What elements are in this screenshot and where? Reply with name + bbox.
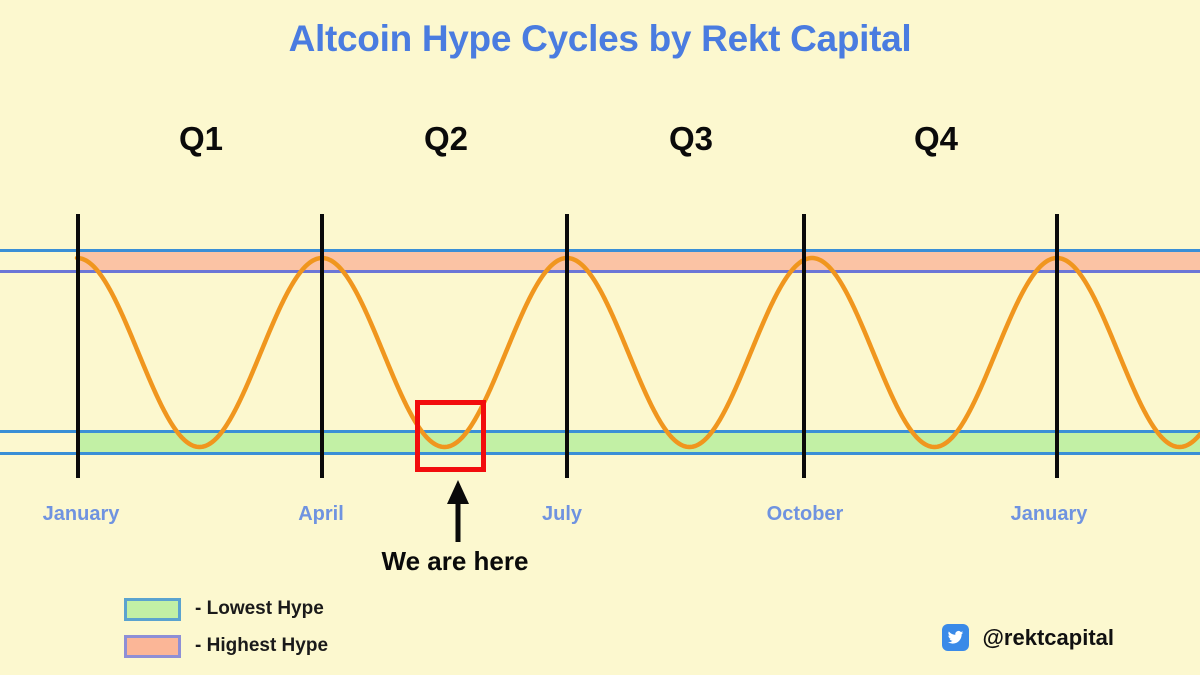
credit-attribution: @rektcapital: [942, 624, 1114, 651]
month-label-january: January: [43, 503, 120, 526]
legend-item-highest-hype: - Highest Hype: [124, 631, 328, 661]
quarter-divider-january-end: [1055, 214, 1059, 478]
twitter-icon: [942, 624, 969, 651]
legend-label-highest-hype: - Highest Hype: [195, 635, 328, 657]
lowest-band-top-line: [0, 430, 1200, 433]
legend-label-lowest-hype: - Lowest Hype: [195, 598, 324, 620]
chart-canvas: Altcoin Hype Cycles by Rekt Capital Q1 Q…: [0, 0, 1200, 675]
quarter-divider-july: [565, 214, 569, 478]
lowest-hype-band: [77, 433, 1200, 452]
current-position-highlight-box: [415, 400, 486, 472]
legend: - Lowest Hype - Highest Hype: [124, 594, 328, 668]
month-label-july: July: [542, 503, 582, 526]
lowest-band-bottom-line: [0, 452, 1200, 455]
annotation-label: We are here: [382, 546, 529, 577]
quarter-divider-january: [76, 214, 80, 478]
highest-band-top-line: [0, 249, 1200, 252]
highest-band-bottom-line: [0, 270, 1200, 273]
hype-cycle-curve: [0, 0, 1200, 675]
quarter-divider-october: [802, 214, 806, 478]
quarter-divider-april: [320, 214, 324, 478]
legend-item-lowest-hype: - Lowest Hype: [124, 594, 328, 624]
legend-swatch-lowest-hype: [124, 598, 181, 621]
month-label-october: October: [767, 503, 844, 526]
month-label-april: April: [298, 503, 344, 526]
credit-handle-label: @rektcapital: [982, 625, 1114, 651]
highest-hype-band: [77, 252, 1200, 270]
annotation-arrow-icon: [447, 480, 469, 542]
plot-area: We are here: [0, 0, 1200, 675]
legend-swatch-highest-hype: [124, 635, 181, 658]
month-label-january-end: January: [1011, 503, 1088, 526]
